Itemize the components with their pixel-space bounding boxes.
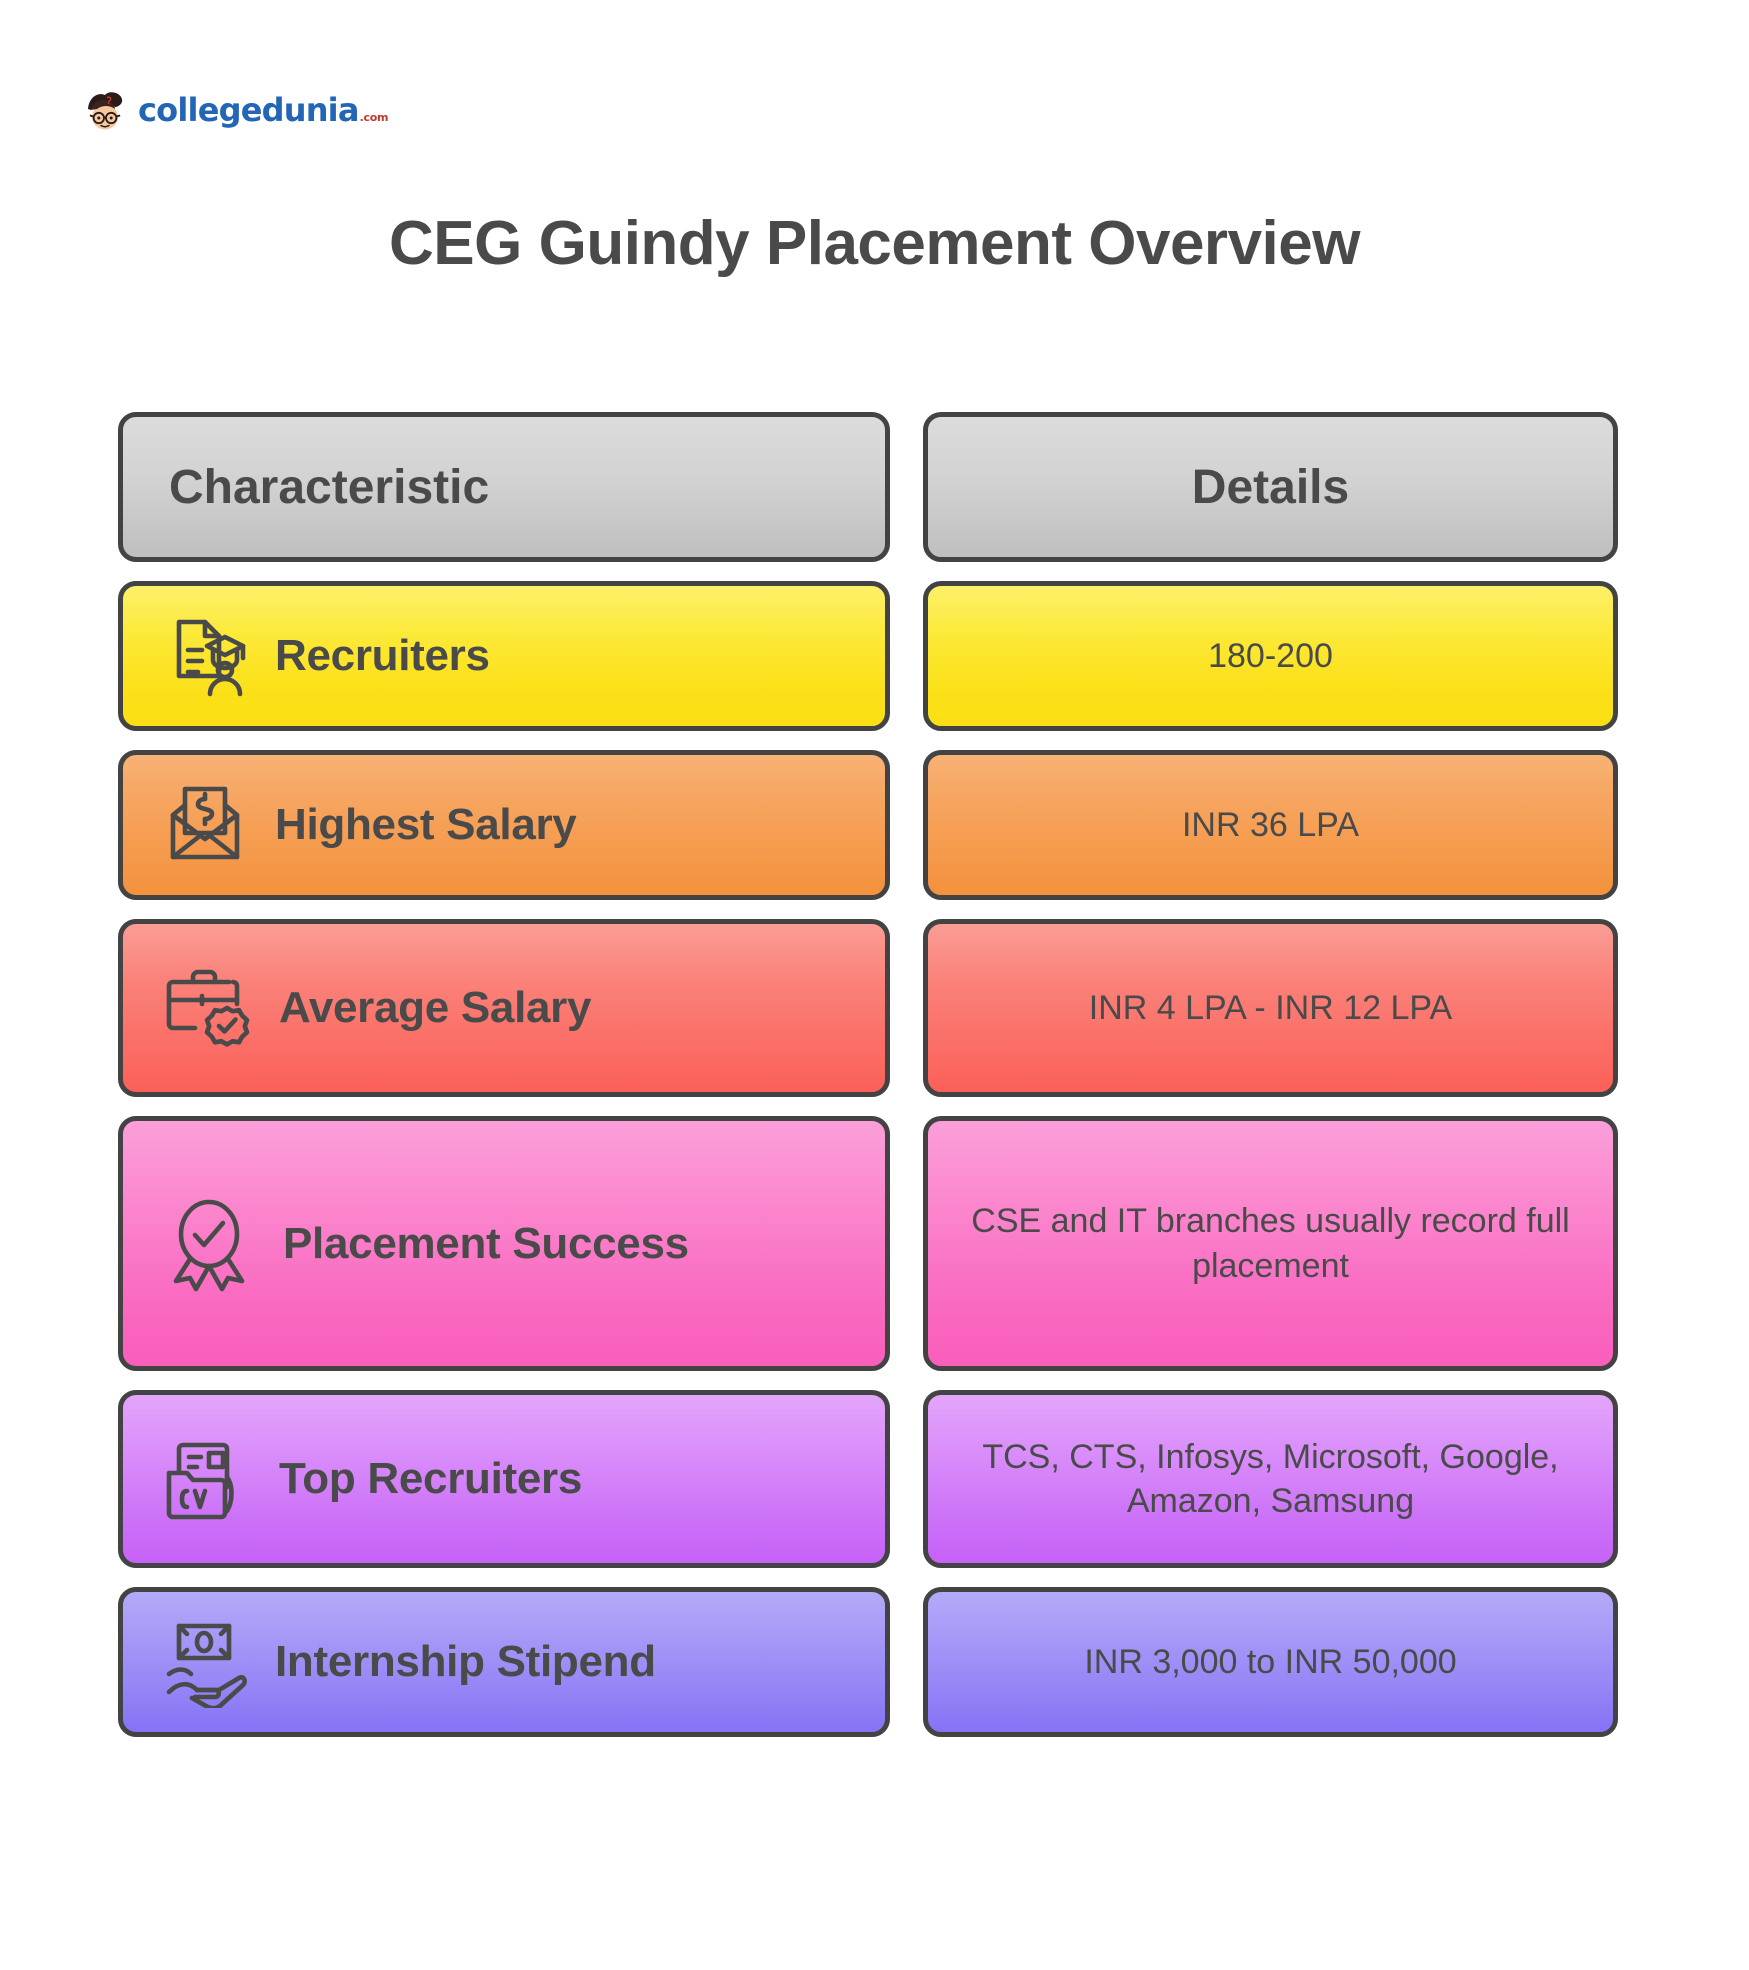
cv-folder-icon — [157, 1427, 257, 1532]
page-title: CEG Guindy Placement Overview — [0, 208, 1749, 279]
briefcase-badge-icon — [157, 956, 257, 1061]
characteristic-label: Top Recruiters — [279, 1454, 582, 1504]
hand-money-icon — [157, 1612, 253, 1713]
characteristic-cell-placement-success: Placement Success — [118, 1116, 890, 1371]
characteristic-cell-highest-salary: Highest Salary — [118, 750, 890, 900]
brand-wordmark: collegedunia .com — [138, 94, 388, 126]
header-label-details: Details — [1192, 460, 1349, 515]
details-cell-top-recruiters: TCS, CTS, Infosys, Microsoft, Google, Am… — [923, 1390, 1618, 1568]
details-cell-placement-success: CSE and IT branches usually record full … — [923, 1116, 1618, 1371]
details-cell-internship-stipend: INR 3,000 to INR 50,000 — [923, 1587, 1618, 1737]
brand-logo: collegedunia .com — [82, 84, 388, 136]
details-text: 180-200 — [1208, 634, 1333, 678]
table-row: Top Recruiters TCS, CTS, Infosys, Micros… — [118, 1390, 1618, 1568]
characteristic-label: Internship Stipend — [275, 1637, 656, 1687]
table-row: Placement Success CSE and IT branches us… — [118, 1116, 1618, 1371]
table-row: Internship Stipend INR 3,000 to INR 50,0… — [118, 1587, 1618, 1737]
table-header-row: Characteristic Details — [118, 412, 1618, 562]
collegedunia-mascot-icon — [82, 87, 128, 133]
characteristic-cell-internship-stipend: Internship Stipend — [118, 1587, 890, 1737]
table-row: Average Salary INR 4 LPA - INR 12 LPA — [118, 919, 1618, 1097]
details-text: INR 3,000 to INR 50,000 — [1084, 1640, 1456, 1684]
table-row: Highest Salary INR 36 LPA — [118, 750, 1618, 900]
header-cell-characteristic: Characteristic — [118, 412, 890, 562]
characteristic-label: Average Salary — [279, 983, 591, 1033]
details-cell-average-salary: INR 4 LPA - INR 12 LPA — [923, 919, 1618, 1097]
details-text: TCS, CTS, Infosys, Microsoft, Google, Am… — [956, 1435, 1585, 1523]
details-cell-highest-salary: INR 36 LPA — [923, 750, 1618, 900]
details-text: CSE and IT branches usually record full … — [956, 1199, 1585, 1287]
placement-overview-table: Characteristic Details — [118, 412, 1618, 1737]
details-text: INR 36 LPA — [1182, 803, 1359, 847]
details-text: INR 4 LPA - INR 12 LPA — [1089, 986, 1452, 1030]
award-ribbon-check-icon — [157, 1189, 261, 1298]
brand-name: collegedunia — [138, 94, 359, 126]
characteristic-label: Placement Success — [283, 1219, 689, 1269]
characteristic-label: Highest Salary — [275, 800, 576, 850]
table-row: Recruiters 180-200 — [118, 581, 1618, 731]
characteristic-cell-average-salary: Average Salary — [118, 919, 890, 1097]
characteristic-cell-top-recruiters: Top Recruiters — [118, 1390, 890, 1568]
characteristic-label: Recruiters — [275, 631, 490, 681]
header-label-characteristic: Characteristic — [169, 460, 489, 515]
salary-envelope-icon — [157, 775, 253, 876]
details-cell-recruiters: 180-200 — [923, 581, 1618, 731]
header-cell-details: Details — [923, 412, 1618, 562]
brand-tld: .com — [360, 112, 389, 123]
characteristic-cell-recruiters: Recruiters — [118, 581, 890, 731]
resume-graduate-icon — [157, 606, 253, 707]
infographic-page: collegedunia .com CEG Guindy Placement O… — [0, 0, 1749, 1970]
